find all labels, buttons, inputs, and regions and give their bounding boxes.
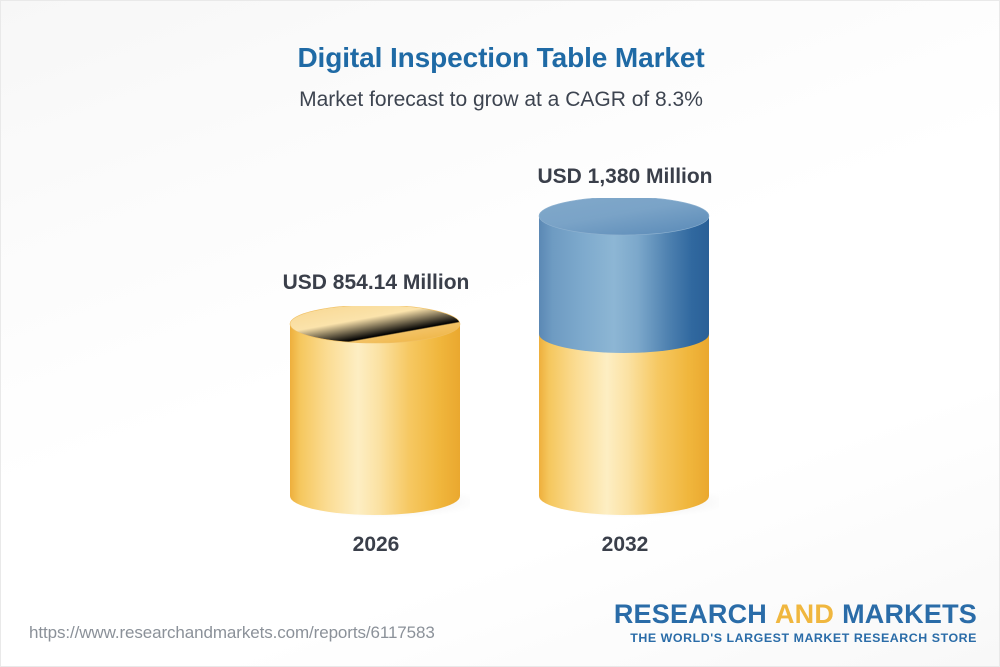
logo-tagline: THE WORLD'S LARGEST MARKET RESEARCH STOR… [614,631,977,646]
bar-group-2026: USD 854.14 Million [266,1,486,601]
infographic-card: Digital Inspection Table Market Market f… [0,0,1000,667]
cylinder-body [290,324,460,515]
logo-word-and: AND [775,599,834,629]
logo-word-markets: MARKETS [842,599,977,629]
cylinder-2026[interactable] [282,306,470,521]
bar-category-label-2026: 2026 [266,532,486,558]
bar-chart-plot: USD 854.14 Million [1,1,1000,601]
logo-word-research: RESEARCH [614,599,767,629]
cylinder-2032-svg [531,198,719,521]
logo-wordmark: RESEARCHANDMARKETS [614,600,977,629]
bar-group-2032: USD 1,380 Million [515,1,735,601]
cylinder-segment-growth [539,216,709,353]
bar-value-label-2032: USD 1,380 Million [515,164,735,190]
cylinder-2032[interactable] [531,198,719,521]
report-url[interactable]: https://www.researchandmarkets.com/repor… [29,623,435,643]
bar-value-label-2026: USD 854.14 Million [266,270,486,296]
cylinder-segment-base [539,326,709,515]
cylinder-2026-svg [282,306,470,521]
bar-category-label-2032: 2032 [515,532,735,558]
research-and-markets-logo[interactable]: RESEARCHANDMARKETS THE WORLD'S LARGEST M… [614,600,977,646]
